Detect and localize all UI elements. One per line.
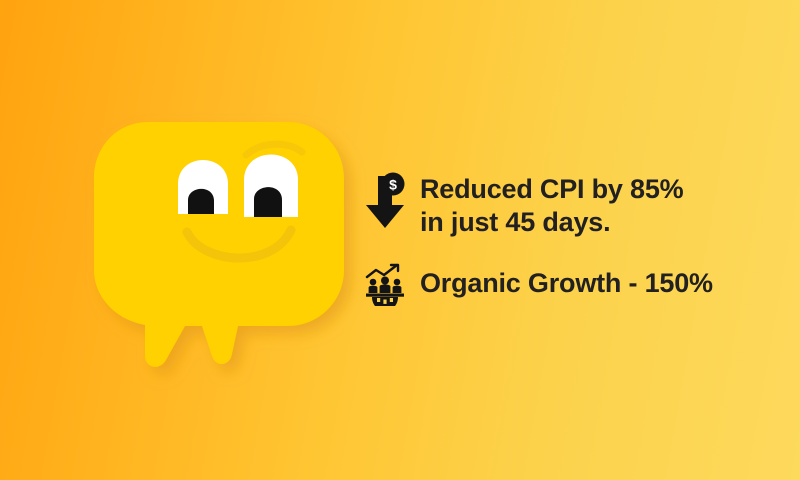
mascot-body [94, 122, 344, 367]
organic-growth-icon [362, 261, 408, 307]
right-eye [244, 155, 298, 218]
list-item: Organic Growth - 150% [362, 261, 782, 307]
speech-bubble-mascot [92, 122, 354, 372]
promo-banner: $ Reduced CPI by 85% in just 45 days. [0, 0, 800, 480]
list-item-text: Reduced CPI by 85% in just 45 days. [408, 172, 684, 239]
list-item-text: Organic Growth - 150% [408, 261, 713, 300]
dollar-down-arrow-icon: $ [362, 172, 408, 234]
svg-text:$: $ [389, 177, 397, 193]
left-eye [178, 160, 228, 214]
list-item: $ Reduced CPI by 85% in just 45 days. [362, 172, 782, 239]
highlights-list: $ Reduced CPI by 85% in just 45 days. [362, 172, 782, 307]
